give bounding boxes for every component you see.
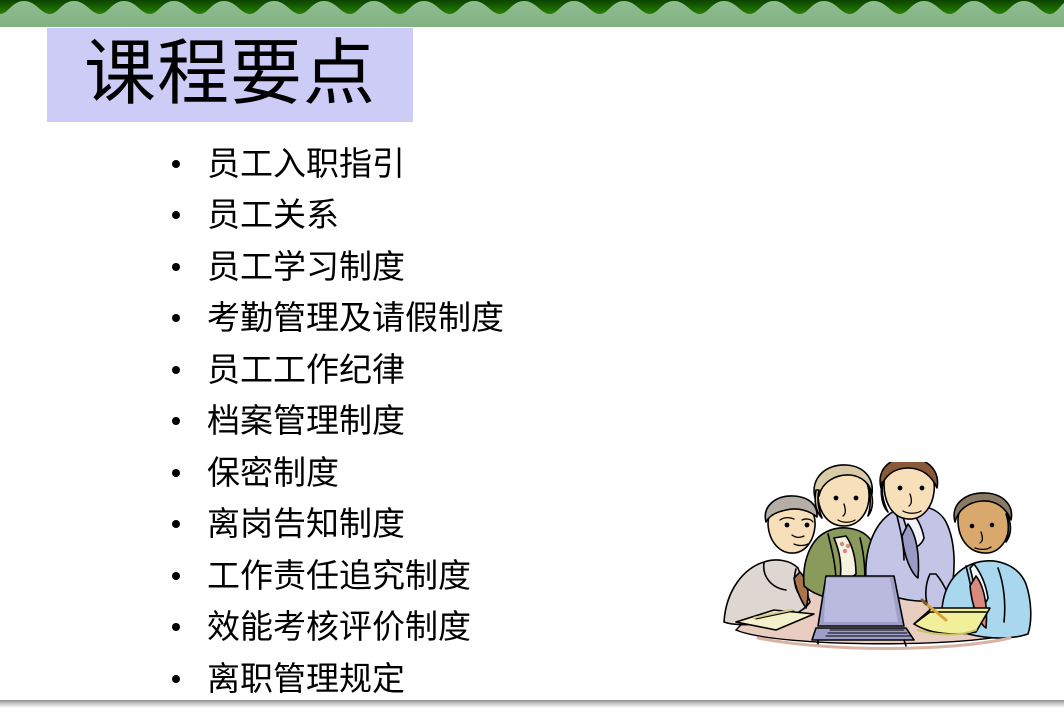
list-item: 员工入职指引 bbox=[160, 138, 780, 190]
list-item-label: 保密制度 bbox=[207, 455, 339, 491]
list-item: 效能考核评价制度 bbox=[160, 602, 780, 654]
page-title-box: 课程要点 bbox=[47, 28, 413, 122]
bullet-dot-icon bbox=[172, 417, 180, 425]
course-outline-list: 员工入职指引 员工关系 员工学习制度 考勤管理及请假制度 员工工作纪律 档案管理… bbox=[160, 138, 780, 705]
bullet-dot-icon bbox=[172, 314, 180, 322]
list-item: 考勤管理及请假制度 bbox=[160, 293, 780, 345]
list-item: 员工关系 bbox=[160, 190, 780, 242]
list-item: 保密制度 bbox=[160, 447, 780, 499]
bullet-dot-icon bbox=[172, 469, 180, 477]
list-item-label: 离岗告知制度 bbox=[207, 506, 405, 542]
page-title: 课程要点 bbox=[84, 36, 376, 110]
bullet-dot-icon bbox=[172, 211, 180, 219]
list-item: 员工工作纪律 bbox=[160, 344, 780, 396]
bullet-dot-icon bbox=[172, 263, 180, 271]
list-item-label: 员工入职指引 bbox=[207, 146, 405, 182]
bullet-dot-icon bbox=[172, 366, 180, 374]
bullet-dot-icon bbox=[172, 572, 180, 580]
list-item-label: 考勤管理及请假制度 bbox=[207, 300, 504, 336]
list-item-label: 效能考核评价制度 bbox=[207, 609, 471, 645]
bullet-dot-icon bbox=[172, 675, 180, 683]
bullet-dot-icon bbox=[172, 623, 180, 631]
list-item-label: 员工关系 bbox=[207, 197, 339, 233]
list-item-label: 档案管理制度 bbox=[207, 403, 405, 439]
list-item-label: 员工工作纪律 bbox=[207, 352, 405, 388]
slide: 课程要点 员工入职指引 员工关系 员工学习制度 考勤管理及请假制度 员工工作纪律… bbox=[0, 0, 1064, 708]
list-item: 工作责任追究制度 bbox=[160, 550, 780, 602]
green-scalloped-border bbox=[0, 0, 1064, 27]
list-item: 档案管理制度 bbox=[160, 396, 780, 448]
bullet-dot-icon bbox=[172, 160, 180, 168]
list-item: 离职管理规定 bbox=[160, 653, 780, 705]
bullet-dot-icon bbox=[172, 520, 180, 528]
list-item: 离岗告知制度 bbox=[160, 499, 780, 551]
list-item: 员工学习制度 bbox=[160, 241, 780, 293]
list-item-label: 工作责任追究制度 bbox=[207, 558, 471, 594]
slide-edge-band bbox=[0, 700, 1064, 708]
list-item-label: 员工学习制度 bbox=[207, 249, 405, 285]
list-item-label: 离职管理规定 bbox=[207, 661, 405, 697]
business-team-at-laptop-clipart bbox=[718, 462, 1038, 677]
